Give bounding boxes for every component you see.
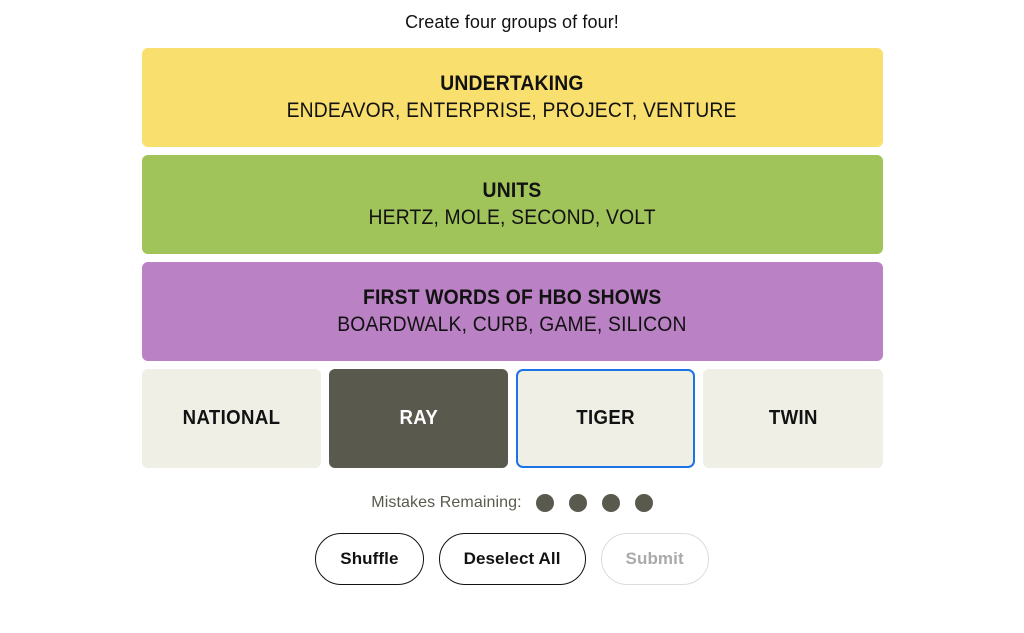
mistakes-remaining: Mistakes Remaining: bbox=[371, 494, 652, 512]
submit-button[interactable]: Submit bbox=[601, 533, 709, 585]
tile-tiger[interactable]: TIGER bbox=[516, 369, 695, 468]
game-board: UNDERTAKING ENDEAVOR, ENTERPRISE, PROJEC… bbox=[142, 48, 883, 468]
tile-label: TWIN bbox=[768, 407, 817, 430]
mistake-dot bbox=[635, 494, 653, 512]
mistake-dot bbox=[569, 494, 587, 512]
solved-group-members: HERTZ, MOLE, SECOND, VOLT bbox=[368, 204, 655, 232]
solved-group-green: UNITS HERTZ, MOLE, SECOND, VOLT bbox=[142, 155, 883, 254]
tile-label: RAY bbox=[399, 407, 438, 430]
instruction-text: Create four groups of four! bbox=[405, 10, 619, 34]
tile-ray[interactable]: RAY bbox=[329, 369, 508, 468]
mistakes-label: Mistakes Remaining: bbox=[371, 494, 521, 512]
solved-group-yellow: UNDERTAKING ENDEAVOR, ENTERPRISE, PROJEC… bbox=[142, 48, 883, 147]
shuffle-button[interactable]: Shuffle bbox=[315, 533, 423, 585]
deselect-all-button[interactable]: Deselect All bbox=[439, 533, 586, 585]
action-buttons: Shuffle Deselect All Submit bbox=[315, 533, 708, 585]
mistake-dots bbox=[536, 494, 653, 512]
mistake-dot bbox=[602, 494, 620, 512]
solved-group-title: FIRST WORDS OF HBO SHOWS bbox=[363, 285, 662, 311]
solved-group-purple: FIRST WORDS OF HBO SHOWS BOARDWALK, CURB… bbox=[142, 262, 883, 361]
connections-game: Create four groups of four! UNDERTAKING … bbox=[0, 0, 1024, 633]
mistake-dot bbox=[536, 494, 554, 512]
solved-group-title: UNITS bbox=[483, 178, 542, 204]
tile-row: NATIONAL RAY TIGER TWIN bbox=[142, 369, 883, 468]
tile-twin[interactable]: TWIN bbox=[703, 369, 882, 468]
solved-group-members: BOARDWALK, CURB, GAME, SILICON bbox=[337, 311, 686, 339]
tile-label: TIGER bbox=[576, 407, 635, 430]
tile-national[interactable]: NATIONAL bbox=[142, 369, 321, 468]
solved-group-members: ENDEAVOR, ENTERPRISE, PROJECT, VENTURE bbox=[287, 97, 737, 125]
solved-group-title: UNDERTAKING bbox=[440, 71, 583, 97]
tile-label: NATIONAL bbox=[182, 407, 280, 430]
